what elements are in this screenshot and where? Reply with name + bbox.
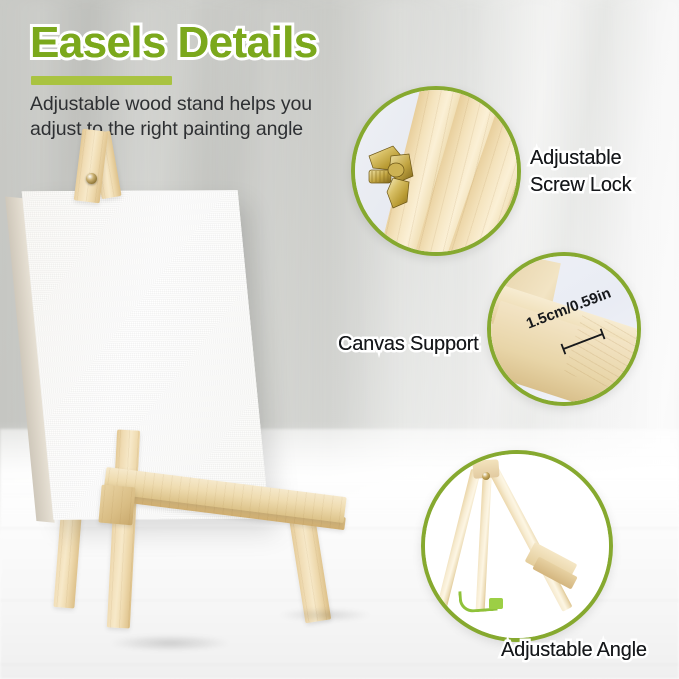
- title-underline-rule: [31, 76, 172, 85]
- easel-top-screw-icon: [86, 173, 97, 184]
- easel-foot-shadow: [280, 608, 370, 622]
- easel-foot-shadow: [110, 635, 230, 651]
- callout-circle-canvas-support: 1.5cm/0.59in: [487, 252, 641, 406]
- easel-joint-block: [98, 485, 135, 526]
- blank-canvas: [22, 190, 270, 520]
- callout-label-screw-lock: Adjustable Screw Lock: [530, 145, 631, 199]
- callout-label-canvas-support: Canvas Support: [338, 331, 479, 358]
- canvas-face: [22, 190, 270, 520]
- callout-circle-adjustable-angle: [421, 450, 613, 642]
- wing-screw-icon: [363, 142, 425, 214]
- hero-easel-photo: [0, 130, 390, 679]
- infographic-canvas: Easels Details Easels Details Adjustable…: [0, 0, 679, 679]
- callout-label-adjustable-angle: Adjustable Angle: [501, 637, 647, 664]
- page-title: Easels Details: [30, 18, 318, 68]
- callout-circle-screw-lock: [351, 86, 521, 256]
- easel-angle-clip: [489, 598, 503, 609]
- easel-pivot-screw-icon: [482, 472, 490, 480]
